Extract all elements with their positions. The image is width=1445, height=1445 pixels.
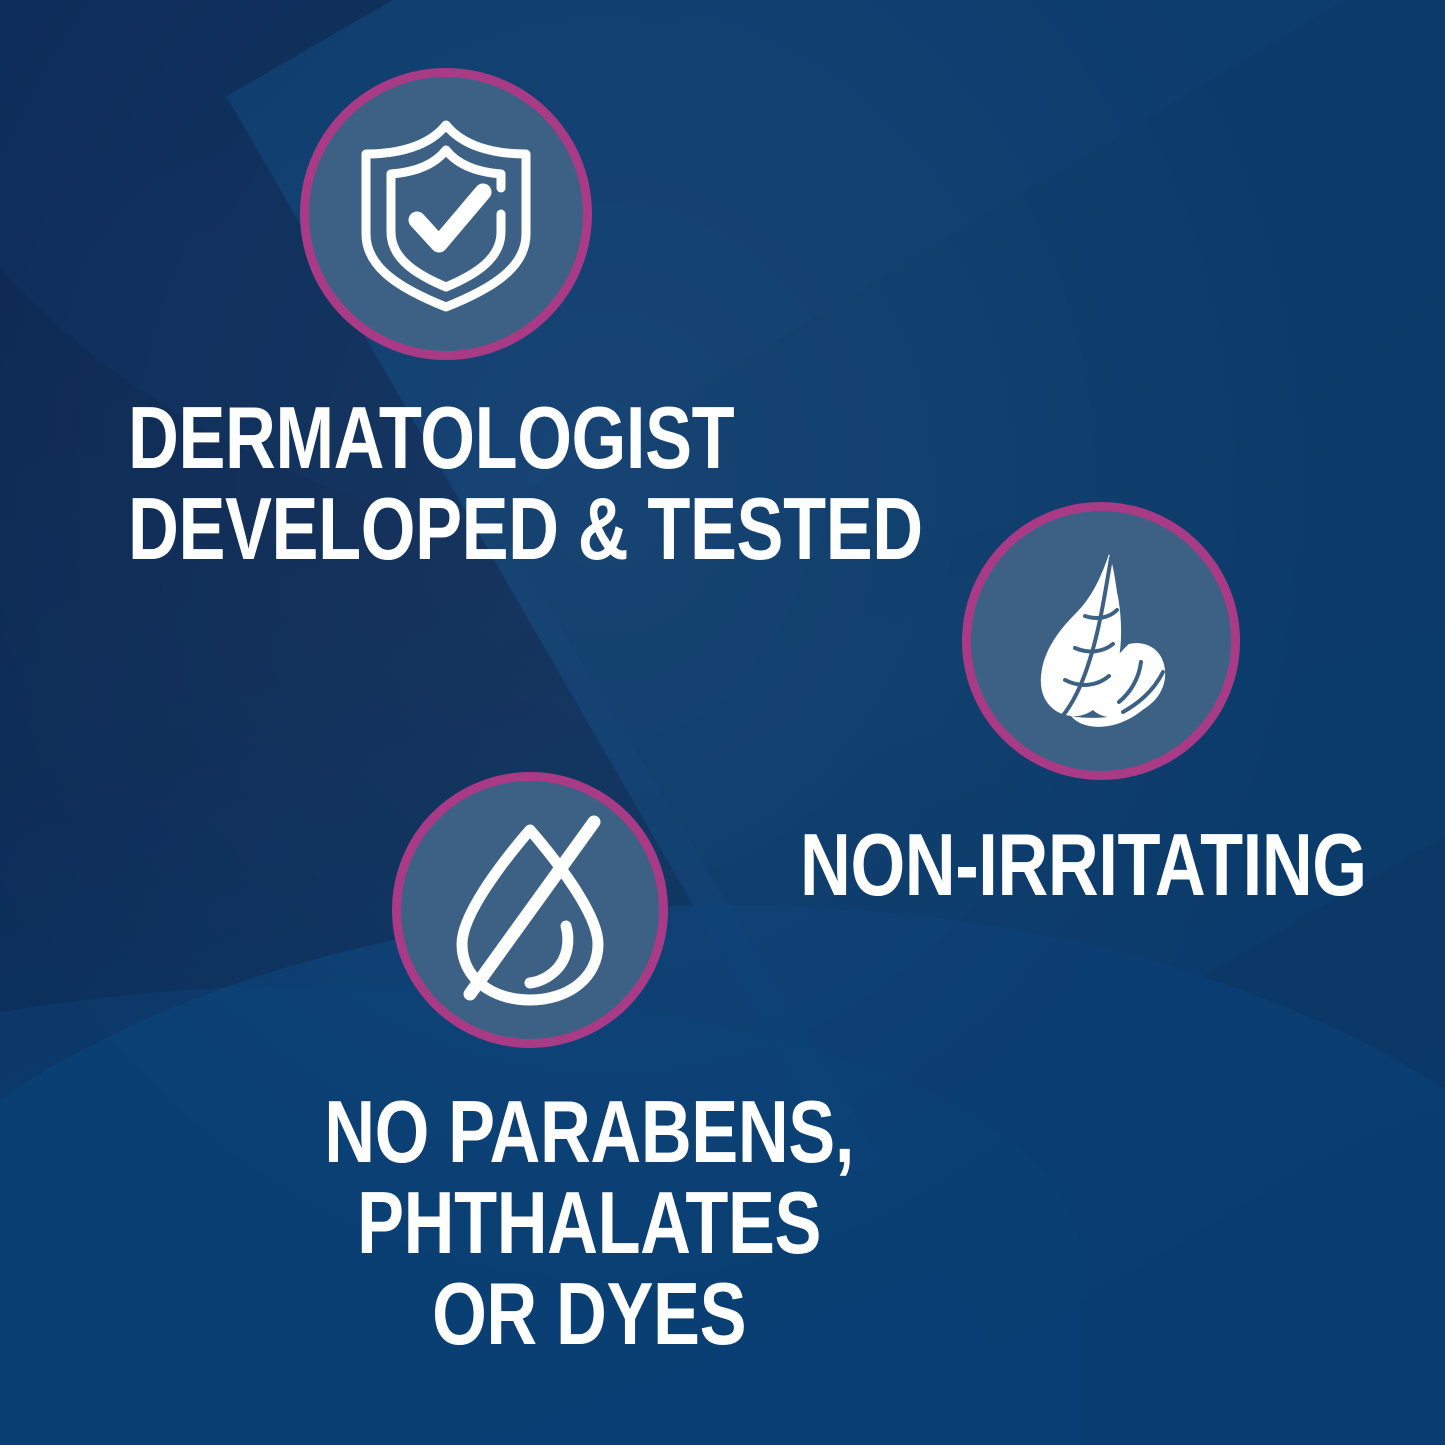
benefit-label-line: NON-IRRITATING <box>800 825 1367 906</box>
benefit-label-line: OR DYES <box>324 1274 854 1355</box>
benefit-badge-no-parabens <box>392 772 668 1048</box>
feather-icon <box>1013 548 1189 734</box>
shield-check-icon <box>353 116 539 312</box>
benefit-label-non-irritating: NON-IRRITATING <box>800 825 1445 906</box>
benefit-label-line: DERMATOLOGIST <box>128 398 923 479</box>
no-droplet-icon <box>438 814 622 1006</box>
benefit-label-line: NO PARABENS, <box>324 1092 854 1173</box>
benefit-label-line: DEVELOPED & TESTED <box>128 489 923 570</box>
benefit-label-dermatologist: DERMATOLOGIST DEVELOPED & TESTED <box>128 398 1121 570</box>
infographic-canvas: DERMATOLOGIST DEVELOPED & TESTED NON-IRR… <box>0 0 1445 1445</box>
benefit-label-no-parabens: NO PARABENS, PHTHALATES OR DYES <box>258 1092 920 1355</box>
benefit-badge-dermatologist <box>300 68 592 360</box>
benefit-label-line: PHTHALATES <box>324 1183 854 1264</box>
